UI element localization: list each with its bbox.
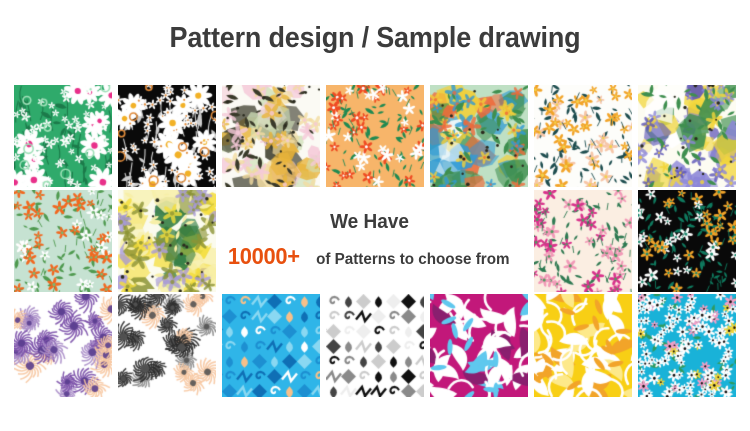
pattern-tile-cream-pink-ditsy-floral[interactable] (534, 190, 632, 292)
pattern-tile-white-orange-ditsy-floral[interactable] (534, 85, 632, 187)
pattern-tile-mint-mixed-floral[interactable] (430, 85, 528, 187)
promo-panel: We Have 10000+ of Patterns to choose fro… (222, 190, 518, 291)
pattern-tile-black-daisy-floral[interactable] (118, 85, 216, 187)
pattern-tile-mint-rose-floral[interactable] (14, 190, 112, 292)
pattern-tile-yellow-swirl-damask[interactable] (534, 294, 632, 397)
pattern-tile-turquoise-dense-daisy[interactable] (638, 294, 736, 397)
page-title: Pattern design / Sample drawing (26, 22, 724, 55)
pattern-row-3 (14, 294, 736, 397)
pattern-tile-monochrome-ikat-geometric[interactable] (326, 294, 424, 397)
pattern-tile-magenta-swirl-damask[interactable] (430, 294, 528, 397)
pattern-tile-blue-ikat-geometric[interactable] (222, 294, 320, 397)
promo-count-line: 10000+ of Patterns to choose from (226, 243, 514, 270)
pattern-tile-purple-peach-mum-brush[interactable] (14, 294, 112, 397)
pattern-tile-gray-peach-mum-brush[interactable] (118, 294, 216, 397)
pattern-row-1 (14, 85, 736, 187)
pattern-tile-orange-ditsy-floral[interactable] (326, 85, 424, 187)
pattern-tile-black-white-ditsy-floral[interactable] (638, 190, 736, 292)
pattern-tile-watercolor-pastel-floral[interactable] (222, 85, 320, 187)
pattern-tile-yellow-lilac-watercolor[interactable] (118, 190, 216, 292)
promo-count-label: of Patterns to choose from (316, 251, 509, 269)
pattern-tile-purple-pansy-floral[interactable] (638, 85, 736, 187)
pattern-tile-green-daisy-floral[interactable] (14, 85, 112, 187)
promo-count-value: 10000+ (228, 243, 300, 270)
promo-headline: We Have (331, 211, 410, 234)
